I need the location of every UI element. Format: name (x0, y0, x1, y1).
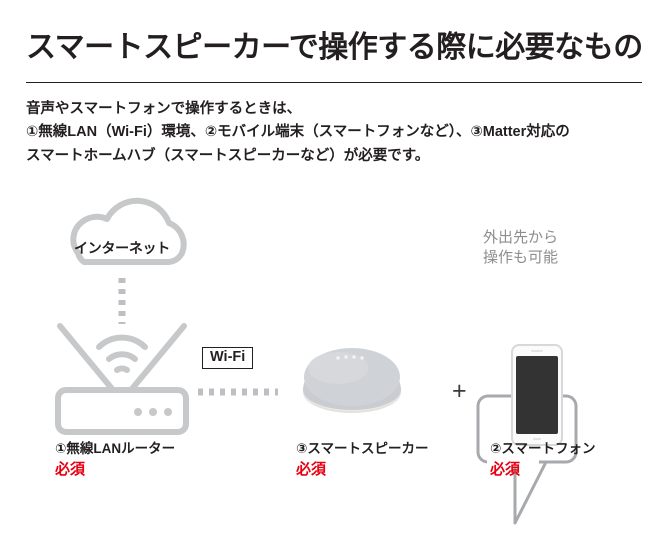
callout-line-2: 操作も可能 (483, 248, 571, 268)
intro-line-2: ①無線LAN（Wi-Fi）環境、②モバイル端末（スマートフォンなど）、③Matt… (26, 121, 644, 144)
intro-line-1: 音声やスマートフォンで操作するときは、 (26, 98, 644, 121)
wifi-badge: Wi-Fi (202, 347, 253, 369)
caption-router-label: ①無線LANルーター (55, 440, 175, 457)
router-icon (58, 326, 186, 432)
caption-phone: ②スマートフォン 必須 (490, 440, 596, 479)
smart-speaker-icon (303, 348, 401, 413)
caption-phone-required: 必須 (490, 460, 596, 479)
title-divider (26, 82, 642, 83)
caption-speaker: ③スマートスピーカー 必須 (296, 440, 429, 479)
smartphone-icon (512, 345, 562, 445)
cloud-label: インターネット (60, 238, 184, 258)
caption-router-required: 必須 (55, 460, 175, 479)
intro-line-3: スマートホームハブ（スマートスピーカーなど）が必要です。 (26, 145, 644, 168)
caption-speaker-label: ③スマートスピーカー (296, 440, 429, 457)
caption-phone-label: ②スマートフォン (490, 440, 596, 457)
intro-paragraph: 音声やスマートフォンで操作するときは、 ①無線LAN（Wi-Fi）環境、②モバイ… (26, 98, 644, 168)
callout-text: 外出先から 操作も可能 (483, 228, 571, 268)
callout-line-1: 外出先から (483, 228, 571, 248)
plus-symbol: + (452, 379, 467, 404)
wifi-signal-icon (99, 338, 145, 370)
page-title: スマートスピーカーで操作する際に必要なもの (26, 30, 642, 66)
caption-router: ①無線LANルーター 必須 (55, 440, 175, 479)
caption-speaker-required: 必須 (296, 460, 429, 479)
